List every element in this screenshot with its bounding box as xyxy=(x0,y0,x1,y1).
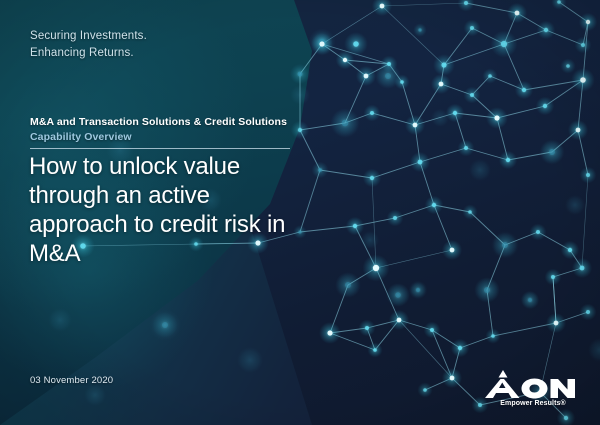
brand-tagline-line-2: Enhancing Returns. xyxy=(30,45,147,62)
aon-wordmark-icon xyxy=(484,369,582,399)
aon-logo-tagline: Empower Results® xyxy=(484,400,582,407)
eyebrow-line-2: Capability Overview xyxy=(30,130,287,145)
brand-tagline-line-1: Securing Investments. xyxy=(30,28,147,45)
title-slide: Securing Investments. Enhancing Returns.… xyxy=(0,0,600,425)
title-divider-rule xyxy=(30,148,290,149)
page-title: How to unlock value through an active ap… xyxy=(29,152,304,268)
slide-date: 03 November 2020 xyxy=(30,375,113,386)
aon-logo: Empower Results® xyxy=(484,369,582,407)
brand-tagline: Securing Investments. Enhancing Returns. xyxy=(30,28,147,62)
slide-eyebrow: M&A and Transaction Solutions & Credit S… xyxy=(30,115,287,144)
eyebrow-line-1: M&A and Transaction Solutions & Credit S… xyxy=(30,115,287,130)
